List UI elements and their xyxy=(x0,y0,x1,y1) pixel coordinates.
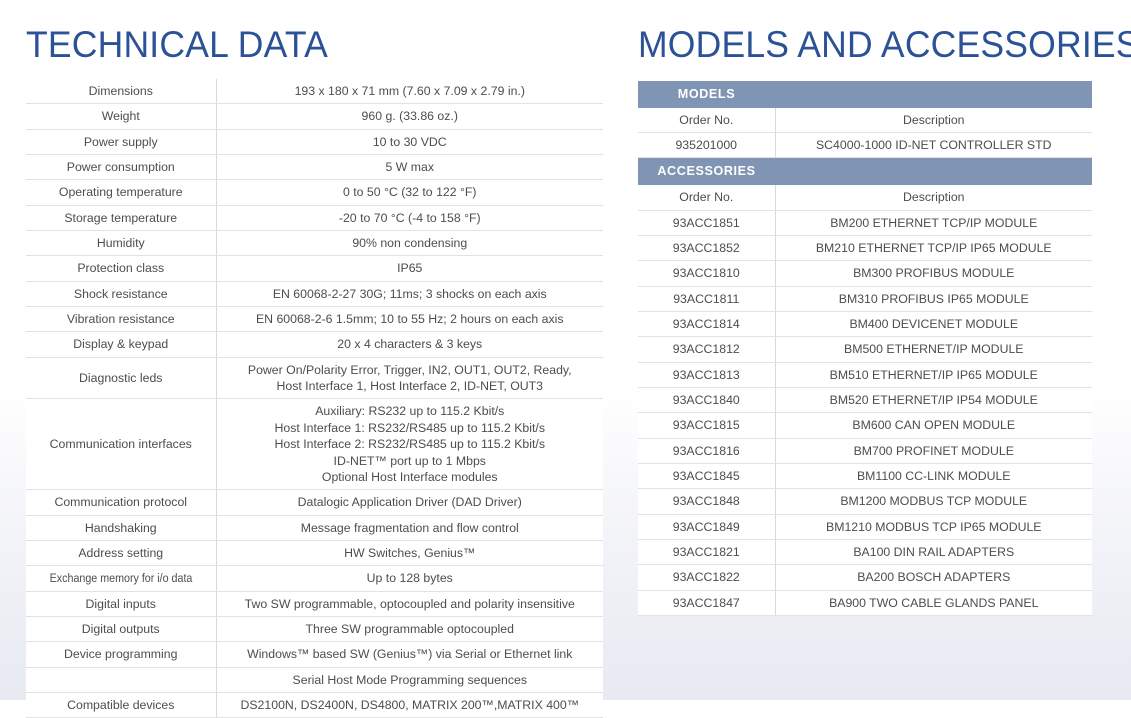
spec-label: Digital inputs xyxy=(26,591,216,616)
item-description: BM510 ETHERNET/IP IP65 MODULE xyxy=(775,362,1092,387)
order-number: 93ACC1849 xyxy=(638,514,775,539)
order-number: 93ACC1821 xyxy=(638,539,775,564)
column-header-description: Description xyxy=(775,185,1092,210)
spec-label: Exchange memory for i/o data xyxy=(26,566,216,591)
table-row: 93ACC1848BM1200 MODBUS TCP MODULE xyxy=(638,489,1092,514)
table-row: Weight960 g. (33.86 oz.) xyxy=(26,104,603,129)
table-row: 93ACC1811BM310 PROFIBUS IP65 MODULE xyxy=(638,286,1092,311)
technical-data-table-body: Dimensions193 x 180 x 71 mm (7.60 x 7.09… xyxy=(26,79,603,718)
spec-value: 193 x 180 x 71 mm (7.60 x 7.09 x 2.79 in… xyxy=(216,79,603,104)
column-header-row: Order No.Description xyxy=(638,108,1092,133)
spec-value: EN 60068-2-27 30G; 11ms; 3 shocks on eac… xyxy=(216,281,603,306)
spec-value: EN 60068-2-6 1.5mm; 10 to 55 Hz; 2 hours… xyxy=(216,307,603,332)
spec-value: Up to 128 bytes xyxy=(216,566,603,591)
table-row: Storage temperature-20 to 70 °C (-4 to 1… xyxy=(26,205,603,230)
table-row: 93ACC1852BM210 ETHERNET TCP/IP IP65 MODU… xyxy=(638,235,1092,260)
order-number: 93ACC1822 xyxy=(638,565,775,590)
item-description: BM1100 CC-LINK MODULE xyxy=(775,463,1092,488)
spec-label: Diagnostic leds xyxy=(26,357,216,399)
accessories-bar-label: ACCESSORIES xyxy=(638,158,775,185)
table-row: Compatible devicesDS2100N, DS2400N, DS48… xyxy=(26,692,603,717)
table-row: 93ACC1812BM500 ETHERNET/IP MODULE xyxy=(638,337,1092,362)
table-row: 93ACC1849BM1210 MODBUS TCP IP65 MODULE xyxy=(638,514,1092,539)
spec-value: HW Switches, Genius™ xyxy=(216,540,603,565)
table-row: Vibration resistanceEN 60068-2-6 1.5mm; … xyxy=(26,307,603,332)
table-row: 93ACC1840BM520 ETHERNET/IP IP54 MODULE xyxy=(638,387,1092,412)
spec-label: Communication interfaces xyxy=(26,399,216,490)
spec-label: Protection class xyxy=(26,256,216,281)
table-row: 93ACC1821BA100 DIN RAIL ADAPTERS xyxy=(638,539,1092,564)
spec-label xyxy=(26,667,216,692)
column-header-row: Order No.Description xyxy=(638,185,1092,210)
order-number: 93ACC1847 xyxy=(638,590,775,615)
table-row: 93ACC1815BM600 CAN OPEN MODULE xyxy=(638,413,1092,438)
technical-data-section: TECHNICAL DATA Dimensions193 x 180 x 71 … xyxy=(26,0,603,718)
spec-label: Digital outputs xyxy=(26,616,216,641)
accessories-bar-filler xyxy=(775,158,1092,185)
models-accessories-title: MODELS AND ACCESSORIES xyxy=(638,0,1074,63)
spec-value: 960 g. (33.86 oz.) xyxy=(216,104,603,129)
spec-label: Communication protocol xyxy=(26,490,216,515)
technical-data-title: TECHNICAL DATA xyxy=(26,0,580,63)
table-row: Address settingHW Switches, Genius™ xyxy=(26,540,603,565)
table-row: 93ACC1845BM1100 CC-LINK MODULE xyxy=(638,463,1092,488)
item-description: BM1200 MODBUS TCP MODULE xyxy=(775,489,1092,514)
item-description: BM300 PROFIBUS MODULE xyxy=(775,261,1092,286)
models-bar-label: MODELS xyxy=(638,81,775,108)
spec-value: Message fragmentation and flow control xyxy=(216,515,603,540)
spec-value: Windows™ based SW (Genius™) via Serial o… xyxy=(216,642,603,667)
item-description: BA900 TWO CABLE GLANDS PANEL xyxy=(775,590,1092,615)
table-row: Display & keypad20 x 4 characters & 3 ke… xyxy=(26,332,603,357)
table-row: Protection classIP65 xyxy=(26,256,603,281)
order-number: 93ACC1816 xyxy=(638,438,775,463)
spec-label: Storage temperature xyxy=(26,205,216,230)
order-number: 93ACC1810 xyxy=(638,261,775,286)
spec-value: 90% non condensing xyxy=(216,231,603,256)
spec-value: Power On/Polarity Error, Trigger, IN2, O… xyxy=(216,357,603,399)
accessories-bar: ACCESSORIES xyxy=(638,158,1092,185)
spec-label: Handshaking xyxy=(26,515,216,540)
table-row: 935201000SC4000-1000 ID-NET CONTROLLER S… xyxy=(638,133,1092,158)
item-description: BM310 PROFIBUS IP65 MODULE xyxy=(775,286,1092,311)
models-bar: MODELS xyxy=(638,81,1092,108)
order-number: 93ACC1851 xyxy=(638,210,775,235)
spec-value: 10 to 30 VDC xyxy=(216,129,603,154)
spec-label: Device programming xyxy=(26,642,216,667)
order-number: 93ACC1813 xyxy=(638,362,775,387)
item-description: BM700 PROFINET MODULE xyxy=(775,438,1092,463)
order-number: 93ACC1815 xyxy=(638,413,775,438)
order-number: 93ACC1811 xyxy=(638,286,775,311)
item-description: BM400 DEVICENET MODULE xyxy=(775,311,1092,336)
item-description: BM210 ETHERNET TCP/IP IP65 MODULE xyxy=(775,235,1092,260)
spec-label: Address setting xyxy=(26,540,216,565)
table-row: Operating temperature0 to 50 °C (32 to 1… xyxy=(26,180,603,205)
order-number: 93ACC1812 xyxy=(638,337,775,362)
order-number: 935201000 xyxy=(638,133,775,158)
spec-value: -20 to 70 °C (-4 to 158 °F) xyxy=(216,205,603,230)
spec-label: Humidity xyxy=(26,231,216,256)
column-header-order-no: Order No. xyxy=(638,185,775,210)
item-description: BM200 ETHERNET TCP/IP MODULE xyxy=(775,210,1092,235)
spec-label: Compatible devices xyxy=(26,692,216,717)
models-accessories-section: MODELS AND ACCESSORIES MODELSOrder No.De… xyxy=(638,0,1092,616)
spec-label: Weight xyxy=(26,104,216,129)
table-row: Exchange memory for i/o dataUp to 128 by… xyxy=(26,566,603,591)
item-description: BM600 CAN OPEN MODULE xyxy=(775,413,1092,438)
spec-label: Power supply xyxy=(26,129,216,154)
table-row: Power consumption5 W max xyxy=(26,155,603,180)
item-description: BM1210 MODBUS TCP IP65 MODULE xyxy=(775,514,1092,539)
table-row: Communication interfacesAuxiliary: RS232… xyxy=(26,399,603,490)
column-header-description: Description xyxy=(775,108,1092,133)
table-row: Digital inputsTwo SW programmable, optoc… xyxy=(26,591,603,616)
table-row: 93ACC1816BM700 PROFINET MODULE xyxy=(638,438,1092,463)
models-accessories-table: MODELSOrder No.Description935201000SC400… xyxy=(638,81,1092,616)
spec-label: Power consumption xyxy=(26,155,216,180)
item-description: BA200 BOSCH ADAPTERS xyxy=(775,565,1092,590)
spec-value: Two SW programmable, optocoupled and pol… xyxy=(216,591,603,616)
spec-value: Auxiliary: RS232 up to 115.2 Kbit/s Host… xyxy=(216,399,603,490)
spec-value: Three SW programmable optocoupled xyxy=(216,616,603,641)
item-description: BM500 ETHERNET/IP MODULE xyxy=(775,337,1092,362)
order-number: 93ACC1845 xyxy=(638,463,775,488)
models-bar-filler xyxy=(775,81,1092,108)
spec-value: DS2100N, DS2400N, DS4800, MATRIX 200™,MA… xyxy=(216,692,603,717)
table-row: Digital outputsThree SW programmable opt… xyxy=(26,616,603,641)
models-accessories-table-body: MODELSOrder No.Description935201000SC400… xyxy=(638,81,1092,616)
item-description: BA100 DIN RAIL ADAPTERS xyxy=(775,539,1092,564)
table-row: Diagnostic ledsPower On/Polarity Error, … xyxy=(26,357,603,399)
item-description: SC4000-1000 ID-NET CONTROLLER STD xyxy=(775,133,1092,158)
column-header-order-no: Order No. xyxy=(638,108,775,133)
table-row: 93ACC1814BM400 DEVICENET MODULE xyxy=(638,311,1092,336)
spec-value: Serial Host Mode Programming sequences xyxy=(216,667,603,692)
table-row: Serial Host Mode Programming sequences xyxy=(26,667,603,692)
item-description: BM520 ETHERNET/IP IP54 MODULE xyxy=(775,387,1092,412)
spec-value: Datalogic Application Driver (DAD Driver… xyxy=(216,490,603,515)
table-row: Humidity90% non condensing xyxy=(26,231,603,256)
table-row: HandshakingMessage fragmentation and flo… xyxy=(26,515,603,540)
datasheet-page: TECHNICAL DATA Dimensions193 x 180 x 71 … xyxy=(0,0,1131,700)
spec-value: IP65 xyxy=(216,256,603,281)
spec-label: Vibration resistance xyxy=(26,307,216,332)
spec-value: 5 W max xyxy=(216,155,603,180)
order-number: 93ACC1852 xyxy=(638,235,775,260)
table-row: Dimensions193 x 180 x 71 mm (7.60 x 7.09… xyxy=(26,79,603,104)
technical-data-table: Dimensions193 x 180 x 71 mm (7.60 x 7.09… xyxy=(26,79,603,718)
spec-label: Shock resistance xyxy=(26,281,216,306)
table-row: Power supply10 to 30 VDC xyxy=(26,129,603,154)
table-row: Device programmingWindows™ based SW (Gen… xyxy=(26,642,603,667)
table-row: 93ACC1822BA200 BOSCH ADAPTERS xyxy=(638,565,1092,590)
order-number: 93ACC1814 xyxy=(638,311,775,336)
spec-label: Operating temperature xyxy=(26,180,216,205)
spec-label-text: Exchange memory for i/o data xyxy=(49,570,192,586)
spec-value: 20 x 4 characters & 3 keys xyxy=(216,332,603,357)
spec-label: Dimensions xyxy=(26,79,216,104)
spec-value: 0 to 50 °C (32 to 122 °F) xyxy=(216,180,603,205)
table-row: 93ACC1851BM200 ETHERNET TCP/IP MODULE xyxy=(638,210,1092,235)
order-number: 93ACC1840 xyxy=(638,387,775,412)
order-number: 93ACC1848 xyxy=(638,489,775,514)
table-row: 93ACC1810BM300 PROFIBUS MODULE xyxy=(638,261,1092,286)
table-row: 93ACC1847BA900 TWO CABLE GLANDS PANEL xyxy=(638,590,1092,615)
table-row: Shock resistanceEN 60068-2-27 30G; 11ms;… xyxy=(26,281,603,306)
table-row: Communication protocolDatalogic Applicat… xyxy=(26,490,603,515)
spec-label: Display & keypad xyxy=(26,332,216,357)
table-row: 93ACC1813BM510 ETHERNET/IP IP65 MODULE xyxy=(638,362,1092,387)
